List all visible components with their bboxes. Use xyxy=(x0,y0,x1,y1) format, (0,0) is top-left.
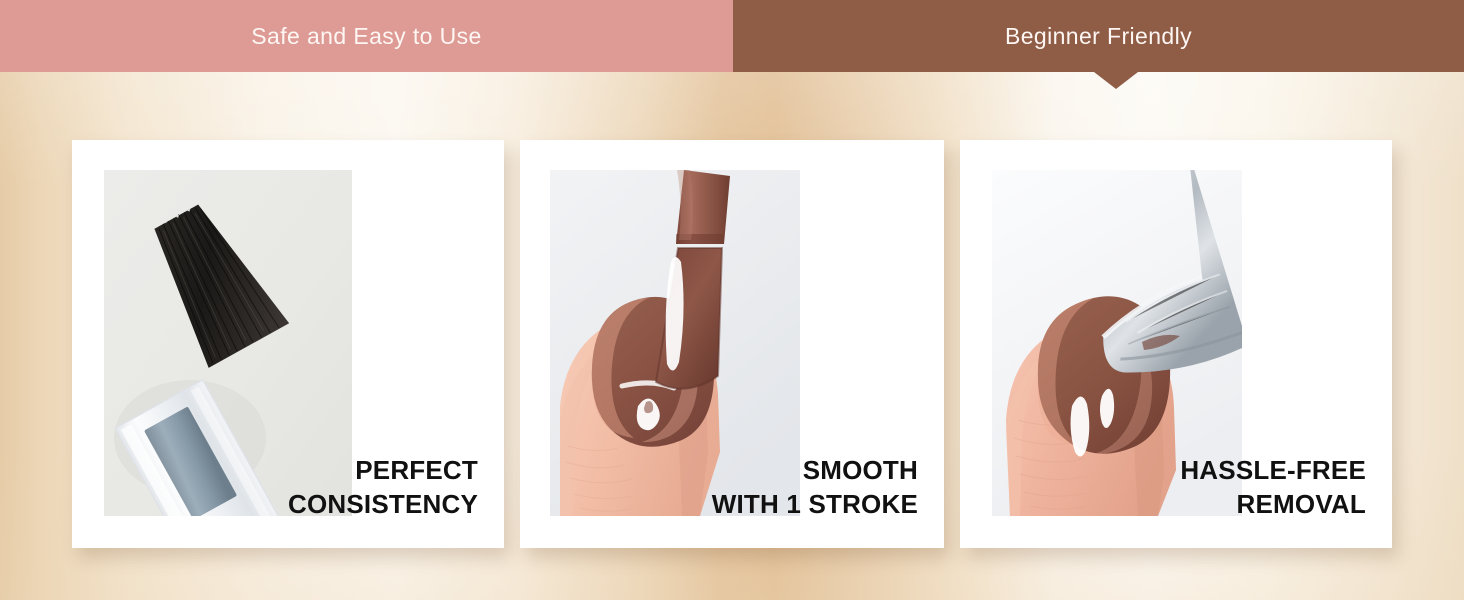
tab-label: Safe and Easy to Use xyxy=(251,23,481,50)
caption-line-2: WITH 1 STROKE xyxy=(712,488,918,522)
card-caption: SMOOTH WITH 1 STROKE xyxy=(712,454,918,522)
tab-beginner-friendly[interactable]: Beginner Friendly xyxy=(733,0,1464,72)
feature-card-perfect-consistency[interactable]: PERFECT CONSISTENCY xyxy=(72,140,504,548)
tab-bar: Safe and Easy to Use Beginner Friendly xyxy=(0,0,1464,72)
caption-line-1: HASSLE-FREE xyxy=(1180,455,1366,485)
caption-line-2: REMOVAL xyxy=(1180,488,1366,522)
feature-card-smooth-with-1-stroke[interactable]: SMOOTH WITH 1 STROKE xyxy=(520,140,944,548)
active-tab-pointer-icon xyxy=(1094,72,1138,89)
tab-label: Beginner Friendly xyxy=(1005,23,1192,50)
card-caption: HASSLE-FREE REMOVAL xyxy=(1180,454,1366,522)
feature-card-hassle-free-removal[interactable]: HASSLE-FREE REMOVAL xyxy=(960,140,1392,548)
promo-banner: Safe and Easy to Use Beginner Friendly xyxy=(0,0,1464,600)
tab-safe-and-easy-to-use[interactable]: Safe and Easy to Use xyxy=(0,0,733,72)
caption-line-1: PERFECT xyxy=(355,455,478,485)
caption-line-1: SMOOTH xyxy=(803,455,918,485)
caption-line-2: CONSISTENCY xyxy=(288,488,478,522)
card-caption: PERFECT CONSISTENCY xyxy=(288,454,478,522)
